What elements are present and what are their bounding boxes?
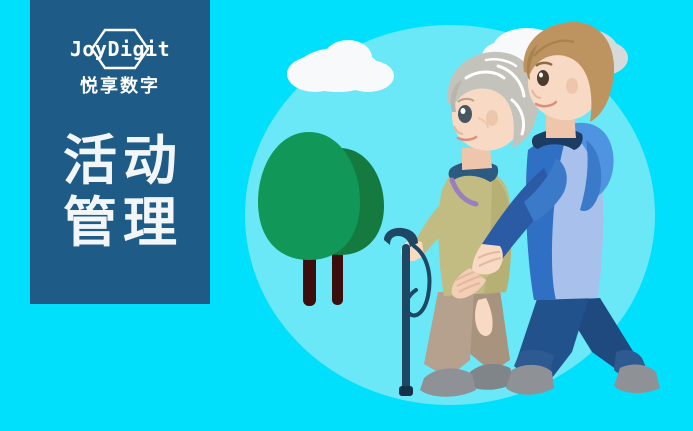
woman-eye-glint: [461, 108, 466, 114]
page-title-line-2: 管理: [57, 192, 183, 254]
woman-neck: [462, 148, 492, 170]
woman-ear: [486, 110, 498, 126]
man-ear: [566, 78, 578, 94]
logo-mark: JoyDigit: [45, 26, 195, 72]
man-eye: [537, 70, 549, 86]
brand-panel: JoyDigit 悦享数字 活动 管理: [30, 0, 210, 304]
logo-chinese-name: 悦享数字: [80, 77, 160, 95]
cane-shaft: [402, 244, 410, 392]
cane-tip: [399, 386, 413, 396]
page-title-line-1: 活动: [57, 130, 183, 192]
man-eye-glint: [539, 73, 543, 78]
logo-wordmark: JoyDigit: [70, 39, 170, 59]
poster-canvas: JoyDigit 悦享数字 活动 管理: [0, 0, 693, 431]
man-front-shoe: [506, 365, 554, 395]
woman-eye: [458, 105, 472, 123]
logo-block: JoyDigit 悦享数字: [45, 26, 195, 110]
page-title: 活动 管理: [57, 130, 183, 254]
